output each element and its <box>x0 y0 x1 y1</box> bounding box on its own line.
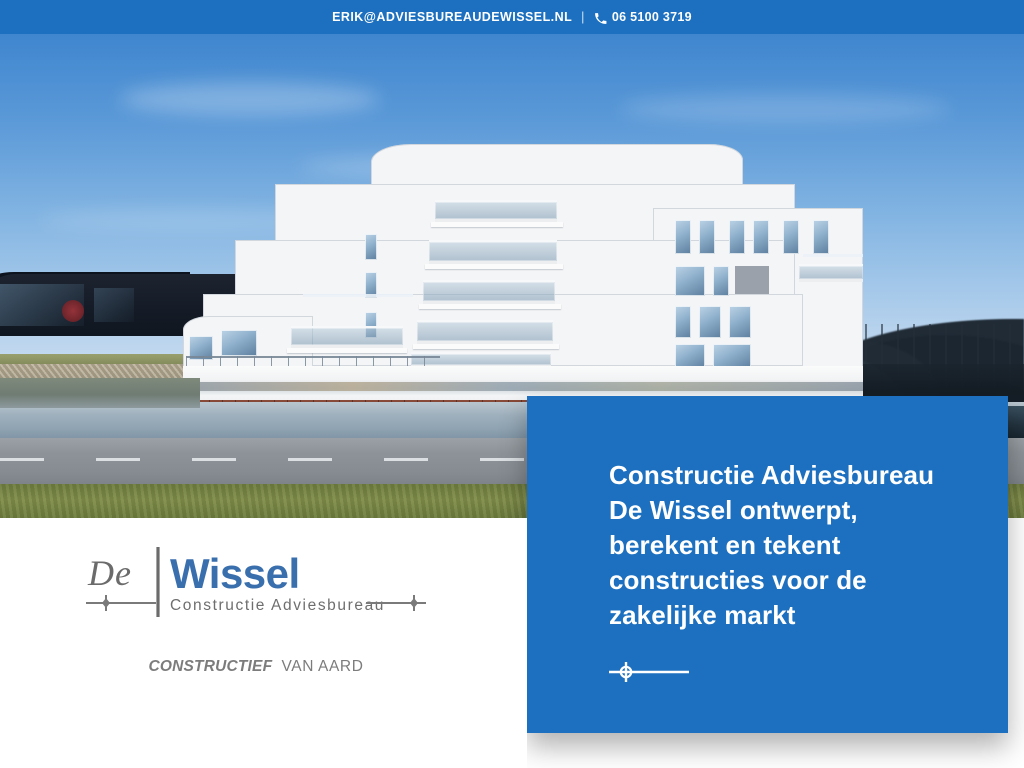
cloud <box>620 94 950 124</box>
window <box>729 306 751 338</box>
floor-slab <box>431 222 563 227</box>
window <box>729 220 745 254</box>
window <box>365 234 377 260</box>
canal-water-left <box>0 378 200 408</box>
railing <box>803 254 863 257</box>
balcony <box>417 320 553 344</box>
tagline-emphasis: CONSTRUCTIEF <box>148 658 272 675</box>
window <box>699 306 721 338</box>
company-logo[interactable]: De Wissel Constructie Adviesbureau <box>84 545 429 617</box>
railing <box>303 294 413 297</box>
tagline: CONSTRUCTIEF VAN AARD <box>0 658 512 676</box>
email-link[interactable]: ERIK@ADVIESBUREAUDEWISSEL.NL <box>332 10 572 24</box>
phone-icon <box>594 12 607 25</box>
logo-block: De Wissel Constructie Adviesbureau CONST… <box>0 518 527 768</box>
balcony <box>799 264 863 282</box>
contact-info: ERIK@ADVIESBUREAUDEWISSEL.NL | 06 5100 3… <box>332 10 692 24</box>
landing-page: ERIK@ADVIESBUREAUDEWISSEL.NL | 06 5100 3… <box>0 0 1024 768</box>
window <box>675 344 705 368</box>
red-detail <box>62 300 84 322</box>
panel-divider <box>609 661 689 683</box>
window <box>221 330 257 356</box>
balcony <box>291 326 403 348</box>
plinth-reflection-stripe <box>183 382 863 391</box>
svg-text:De: De <box>87 553 132 593</box>
floor-slab <box>419 304 561 309</box>
facade-panel <box>735 266 769 294</box>
window <box>713 344 751 368</box>
floor-slab <box>287 348 407 353</box>
window <box>675 306 691 338</box>
tagline-rest: VAN AARD <box>281 658 363 675</box>
balcony <box>435 200 557 222</box>
window <box>675 266 705 296</box>
window <box>783 220 799 254</box>
window <box>713 266 729 296</box>
window <box>675 220 691 254</box>
svg-text:Wissel: Wissel <box>170 550 300 597</box>
svg-text:Constructie Adviesbureau: Constructie Adviesbureau <box>170 597 385 614</box>
top-contact-bar: ERIK@ADVIESBUREAUDEWISSEL.NL | 06 5100 3… <box>0 0 1024 34</box>
survey-marker-divider-icon <box>609 661 689 683</box>
apartment-building <box>183 144 863 369</box>
cloud <box>120 82 380 116</box>
balcony <box>423 280 555 304</box>
window <box>753 220 769 254</box>
window <box>699 220 715 254</box>
hero-text-panel: Constructie Adviesbureau De Wissel ontwe… <box>527 396 1008 733</box>
contact-separator: | <box>581 10 585 24</box>
balcony <box>429 240 557 264</box>
hero-heading: Constructie Adviesbureau De Wissel ontwe… <box>609 458 954 633</box>
window <box>813 220 829 254</box>
floor-slab <box>425 264 563 269</box>
phone-link[interactable]: 06 5100 3719 <box>594 10 692 24</box>
phone-number: 06 5100 3719 <box>612 10 692 24</box>
floor-slab <box>413 344 559 349</box>
